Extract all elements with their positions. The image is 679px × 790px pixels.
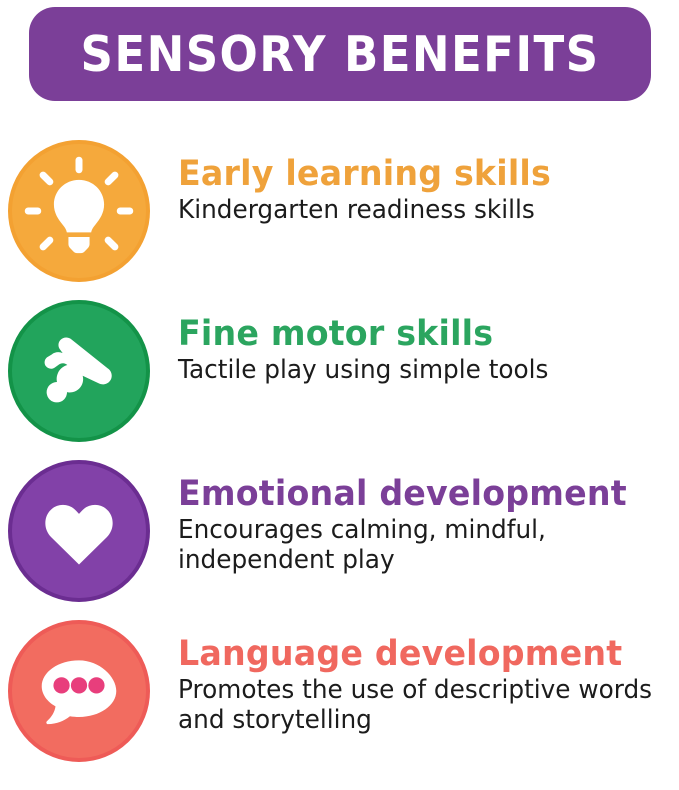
benefit-description: Promotes the use of descriptive words an… — [178, 675, 664, 735]
speech-bubble-icon — [12, 620, 146, 762]
benefit-text-emotional: Emotional development Encourages calming… — [178, 457, 679, 575]
speech-bubble-badge — [8, 620, 150, 762]
benefit-row-language: Language development Promotes the use of… — [0, 617, 679, 777]
benefit-text-fine-motor: Fine motor skills Tactile play using sim… — [178, 297, 679, 385]
benefit-row-fine-motor: Fine motor skills Tactile play using sim… — [0, 297, 679, 457]
benefits-list: Early learning skills Kindergarten readi… — [0, 137, 679, 777]
heart-badge — [8, 460, 150, 602]
benefit-description: Tactile play using simple tools — [178, 355, 664, 385]
pinching-hand-badge — [8, 300, 150, 442]
heart-icon — [12, 460, 146, 602]
benefit-text-early-learning: Early learning skills Kindergarten readi… — [178, 137, 679, 225]
benefit-description: Encourages calming, mindful, independent… — [178, 515, 664, 575]
benefit-text-language: Language development Promotes the use of… — [178, 617, 679, 735]
lightbulb-badge — [8, 140, 150, 282]
lightbulb-icon — [12, 140, 146, 282]
benefit-heading: Language development — [178, 637, 654, 673]
benefit-heading: Early learning skills — [178, 157, 654, 193]
page-title: SENSORY BENEFITS — [81, 30, 600, 79]
benefit-description: Kindergarten readiness skills — [178, 195, 664, 225]
benefit-row-early-learning: Early learning skills Kindergarten readi… — [0, 137, 679, 297]
sensory-benefits-infographic: SENSORY BENEFITS — [0, 0, 679, 790]
benefit-heading: Fine motor skills — [178, 317, 654, 353]
benefit-row-emotional: Emotional development Encourages calming… — [0, 457, 679, 617]
benefit-heading: Emotional development — [178, 477, 654, 513]
header-banner: SENSORY BENEFITS — [29, 7, 651, 101]
pinching-hand-icon — [12, 300, 146, 442]
